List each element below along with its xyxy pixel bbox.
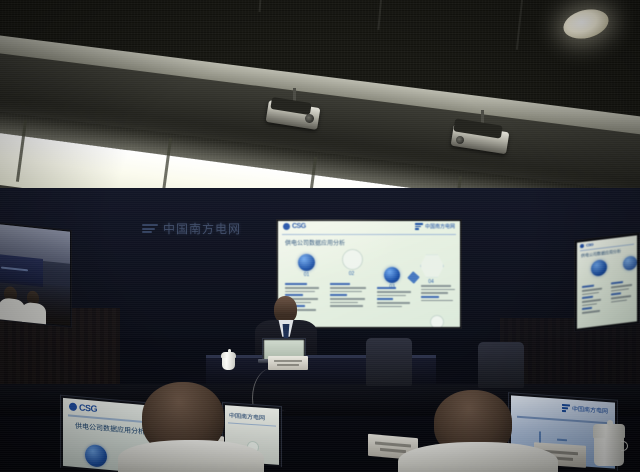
column-body-line [421,289,455,291]
slide-brand-logo: CSG [69,401,97,413]
vc-image [0,224,70,326]
brand-orb-icon [580,243,584,247]
column-body-line [611,299,627,302]
column-body-line [582,288,602,292]
column-body-line [377,291,411,293]
attendee-left-shoulders [118,440,264,472]
column-heading-line [611,281,623,284]
slide-node: 02 [342,249,363,277]
column-heading-line [421,296,439,298]
presenter-head [274,296,297,323]
column-body-line [421,285,451,287]
node-circle-icon [85,444,107,468]
column-body-line [421,300,453,302]
attendee-right-shoulders [398,442,558,472]
slide-brand-logo: CSG [580,242,593,249]
slide-text-column [557,439,567,444]
brand-orb-icon [69,402,77,411]
node-circle-icon [384,267,400,283]
column-heading-line [377,298,393,300]
chair[interactable] [366,338,412,386]
wall-sign-label: 中国南方电网 [163,220,241,237]
csg-mark-icon [142,224,158,233]
slide-text-column [377,287,413,309]
node-label: 01 [298,272,315,278]
slide-node [591,259,607,277]
column-body-line [377,302,410,304]
side-brand-left: CSG [586,242,593,248]
laptop-brand-left: CSG [79,402,97,414]
column-body-line [330,298,365,300]
node-ghost-icon [430,315,444,327]
column-heading-line [285,283,307,285]
column-body-line [285,291,315,293]
slide-header: CSG 中国南方电网 [278,223,460,230]
slide-brand-right: 中国南方电网 [425,223,455,230]
attendee-right [398,390,558,472]
node-hex-icon [420,254,444,278]
csg-mark-icon [562,403,570,412]
projector-lens-icon [305,114,314,123]
node-label: 02 [342,271,361,277]
slide-node [623,255,637,271]
slide-header-rule [282,234,456,235]
node-circle-icon [623,255,637,271]
column-heading-line [582,285,594,288]
side-display-screen[interactable]: CSG 供电公司数据应用分析 [574,232,640,332]
teacup-knob-icon [228,349,231,353]
wall-brand-sign: 中国南方电网 [142,220,241,237]
vc-backdrop-text [1,266,29,271]
slide-csg-logo: 中国南方电网 [415,223,455,230]
slide-csg-logo: 中国南方电网 [562,403,608,415]
vc-attendees [0,279,70,326]
brand-orb-icon [283,223,290,230]
slide-node: 01 [298,254,315,278]
column-body-line [285,287,319,289]
ceiling [0,0,640,220]
column-body-line [611,288,629,292]
presenter-teacup [222,352,235,370]
csg-mark-icon [415,223,423,230]
vc-body [22,302,46,325]
column-heading-line [377,287,396,289]
column-body-line [330,305,363,307]
nameplate-text-line [277,364,299,366]
slide-brand-left: CSG [292,223,306,230]
ceiling-projector-left [265,88,321,140]
column-heading-line [582,296,593,299]
column-body-line [330,291,362,293]
slide-node: 04 [420,254,444,285]
node-circle-icon [298,254,315,271]
projector-lens-icon [456,136,464,144]
node-circle-icon [591,259,607,277]
chair[interactable] [478,342,524,388]
slide-node-bottom [430,315,442,327]
attendee-left [118,382,264,472]
slide-text-column [611,280,632,305]
teacup-lid-icon [593,424,625,438]
column-heading-line [582,307,592,310]
teacup-body [594,435,624,466]
ceiling-projector-right [450,110,512,164]
column-heading-line [330,283,350,285]
attendee-teacup [594,424,624,466]
column-body-line [611,295,631,299]
video-conference-feed[interactable] [0,222,72,328]
slide-text-column [582,284,602,316]
node-ghost-icon [342,249,363,270]
nameplate-text-line [274,360,302,362]
slide-text-column [330,283,368,309]
column-body-line [582,310,600,314]
column-body-line [377,295,406,297]
column-body-line [557,439,567,442]
column-body-line [330,287,366,289]
column-heading-line [330,294,347,296]
slide-text-column [421,285,457,303]
teacup-body [222,356,235,370]
side-slide: CSG 供电公司数据应用分析 [577,235,637,328]
slide-connector [407,271,420,284]
slide-title: 供电公司数据应用分析 [285,238,345,247]
column-body-line [421,292,448,294]
conference-room-photo: 中国南方电网 CSG [0,0,640,472]
laptop-brand-right: 中国南方电网 [572,404,608,416]
slide-node [85,444,107,468]
column-body-line [377,306,402,308]
column-body-line [582,303,597,306]
column-body-line [582,299,601,303]
column-heading-line [611,292,621,295]
column-body-line [582,291,599,295]
slide-brand-logo: CSG [283,223,306,230]
column-body-line [330,302,358,304]
